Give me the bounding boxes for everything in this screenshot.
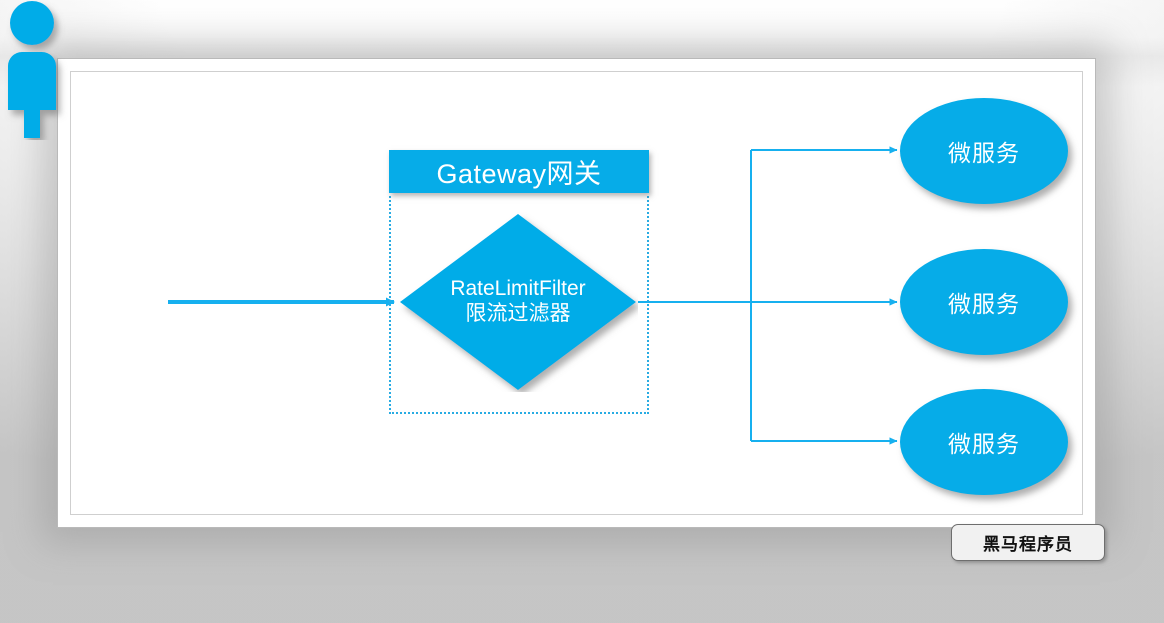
service-node-1[interactable]: 微服务 bbox=[900, 98, 1068, 204]
diagram-stage: Gateway网关 RateLimitFilter 限流过滤器 微服务 微服务 … bbox=[0, 0, 1164, 623]
user-actor[interactable] bbox=[0, 0, 68, 140]
gateway-header-label: Gateway网关 bbox=[436, 152, 601, 191]
person-icon-head bbox=[10, 1, 54, 45]
service-label: 微服务 bbox=[948, 285, 1020, 319]
service-node-3[interactable]: 微服务 bbox=[900, 389, 1068, 495]
diamond-shape bbox=[398, 212, 638, 392]
service-node-2[interactable]: 微服务 bbox=[900, 249, 1068, 355]
watermark-badge: 黑马程序员 bbox=[951, 524, 1105, 561]
service-label: 微服务 bbox=[948, 425, 1020, 459]
service-label: 微服务 bbox=[948, 134, 1020, 168]
rate-limit-filter[interactable]: RateLimitFilter 限流过滤器 bbox=[398, 212, 638, 392]
watermark-label: 黑马程序员 bbox=[983, 530, 1073, 555]
gateway-header[interactable]: Gateway网关 bbox=[389, 150, 649, 193]
person-icon-body bbox=[8, 52, 56, 138]
